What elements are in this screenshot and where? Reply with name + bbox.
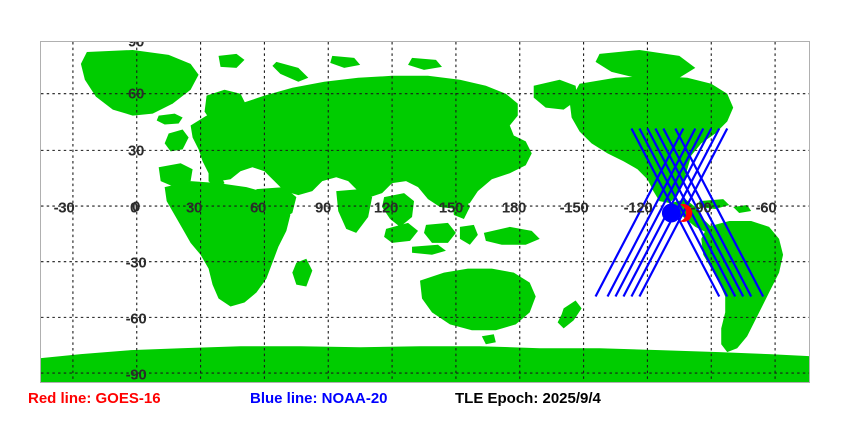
lon-tick-label: -150 xyxy=(560,201,589,216)
lon-tick-label: 30 xyxy=(186,201,202,216)
satellite-ground-track-map: -30 0 30 60 90 120 150 180 -150 -120 -90… xyxy=(0,0,850,425)
lon-tick-label: 90 xyxy=(315,201,331,216)
lon-tick-label: 120 xyxy=(374,201,398,216)
lon-tick-label: -120 xyxy=(624,201,653,216)
lat-tick-label: 0 xyxy=(132,200,140,215)
legend-tle-epoch-label: TLE Epoch: 2025/9/4 xyxy=(455,391,601,406)
lon-tick-label: -60 xyxy=(756,201,777,216)
lat-tick-label: -30 xyxy=(126,256,147,271)
lon-tick-label: -30 xyxy=(54,201,75,216)
legend-goes16-label: Red line: GOES-16 xyxy=(28,391,161,406)
legend-noaa20-label: Blue line: NOAA-20 xyxy=(250,391,388,406)
lat-tick-label: 60 xyxy=(128,87,144,102)
lon-tick-label: 150 xyxy=(439,201,463,216)
legend-footer: Red line: GOES-16 Blue line: NOAA-20 TLE… xyxy=(0,391,850,421)
lat-tick-label: -60 xyxy=(126,312,147,327)
land-antarctica xyxy=(41,346,809,382)
world-map-plot: -30 0 30 60 90 120 150 180 -150 -120 -90… xyxy=(40,41,810,383)
lat-tick-label: 90 xyxy=(128,41,144,50)
lat-tick-label: -90 xyxy=(126,368,147,383)
lon-tick-label: 60 xyxy=(250,201,266,216)
lon-tick-label: -90 xyxy=(691,201,712,216)
lat-tick-label: 30 xyxy=(128,144,144,159)
lon-tick-label: 180 xyxy=(502,201,526,216)
